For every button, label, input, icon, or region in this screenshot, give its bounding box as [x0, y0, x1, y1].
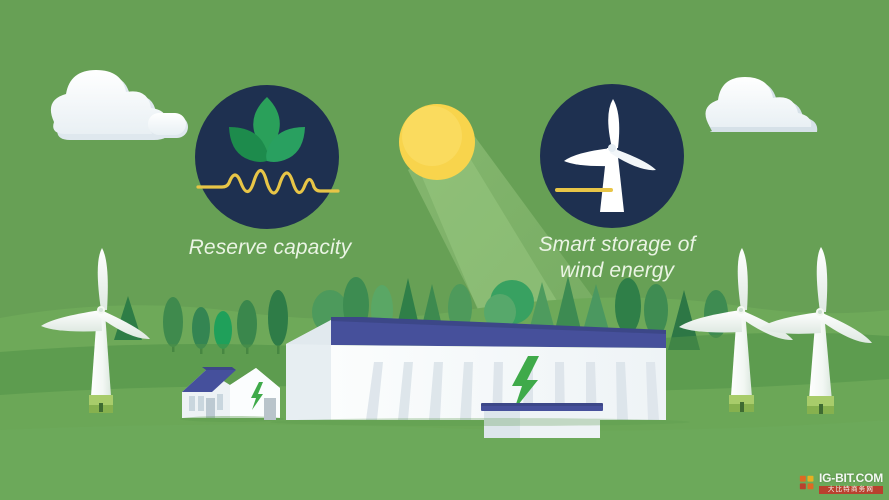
illustration-scene: Reserve capacity Smart storage of wind e…	[0, 0, 889, 500]
watermark-subtitle: 大比特商务网	[819, 486, 883, 495]
ground-field-front	[0, 420, 889, 500]
wind-turbine-icon[interactable]	[540, 84, 684, 228]
sun	[399, 104, 475, 180]
battery-storage-warehouse	[264, 317, 690, 438]
scene-canvas	[0, 0, 889, 500]
plant-leaves-waveform-icon[interactable]	[195, 85, 339, 229]
watermark-logo-icon	[799, 474, 816, 491]
watermark-text: IG-BIT.COM 大比特商务网	[819, 472, 883, 495]
ig-bit-watermark: IG-BIT.COM 大比特商务网	[799, 472, 883, 495]
cloud-small-left	[148, 113, 188, 138]
watermark-title: IG-BIT.COM	[819, 472, 883, 484]
